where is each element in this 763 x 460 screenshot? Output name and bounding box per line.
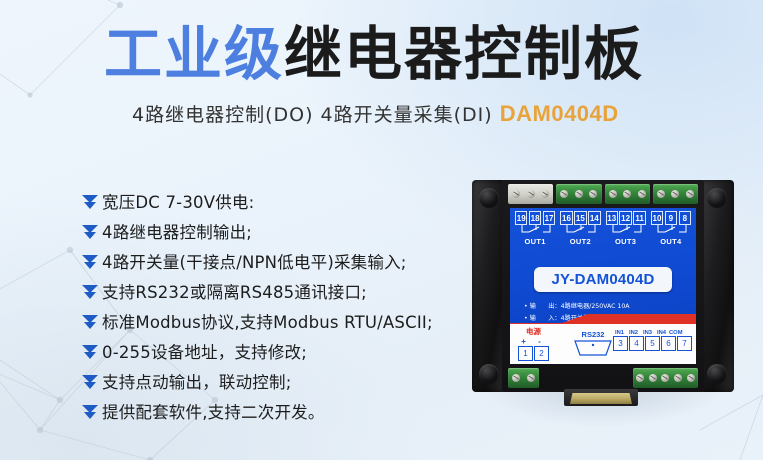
relay-symbol (515, 225, 555, 237)
mounting-ear-left (472, 180, 506, 392)
db9-serial-connector (564, 389, 638, 406)
power-terminal-group: 电源 + - 1 2 (518, 326, 549, 361)
double-chevron-down-icon (78, 309, 102, 333)
terminal-block (633, 368, 698, 388)
bottom-terminal-row (508, 368, 698, 388)
output-group: 19 18 17 OUT1 (515, 211, 555, 246)
terminal-block (508, 368, 539, 388)
output-label: OUT2 (560, 237, 600, 246)
model-plate: JY-DAM0404D (534, 267, 672, 292)
screw-icon (671, 190, 679, 198)
mounting-hole-icon (479, 188, 499, 208)
feature-item: 0-255设备地址，支持修改; (78, 336, 478, 365)
terminal-number: 17 (543, 211, 555, 225)
db9-connector-icon (570, 339, 616, 357)
terminal-number: 14 (588, 211, 600, 225)
double-chevron-down-icon (78, 219, 102, 243)
serial-port-group: RS232 (570, 330, 616, 362)
terminal-number: 16 (560, 211, 572, 225)
input-terminal-group: IN1 IN2 IN3 IN4 COM 3 4 5 6 (613, 330, 692, 351)
mounting-ear-right (700, 180, 734, 392)
spec-value: 4路继电器/250VAC 10A (561, 302, 630, 312)
feature-text: 支持点动输出，联动控制; (102, 369, 291, 393)
power-terminal-numbers: 1 2 (518, 346, 549, 361)
screw-icon (638, 190, 646, 198)
screw-icon (623, 190, 631, 198)
feature-text: 4路继电器控制输出; (102, 219, 252, 243)
feature-item: 支持RS232或隔离RS485通讯接口; (78, 276, 478, 305)
screw-icon (657, 190, 665, 198)
subtitle-text: 4路继电器控制(DO) 4路开关量采集(DI) (132, 104, 493, 126)
double-chevron-down-icon (78, 249, 102, 273)
screw-icon (560, 190, 568, 198)
double-chevron-down-icon (78, 369, 102, 393)
output-group: 13 12 11 OUT3 (606, 211, 646, 246)
screw-icon (687, 374, 695, 382)
feature-text: 支持RS232或隔离RS485通讯接口; (102, 279, 367, 303)
screw-icon (589, 190, 597, 198)
screw-icon (512, 190, 520, 198)
terminal-number: 7 (677, 336, 692, 351)
output-group: 16 15 14 OUT2 (560, 211, 600, 246)
feature-item: 标准Modbus协议,支持Modbus RTU/ASCII; (78, 306, 478, 335)
feature-item: 4路继电器控制输出; (78, 216, 478, 245)
terminal-block (556, 184, 601, 204)
terminal-number-row: 16 15 14 (560, 211, 600, 225)
terminal-number: 12 (619, 211, 631, 225)
terminal-number: 2 (534, 346, 549, 361)
title-highlight: 工业级 (104, 20, 284, 88)
title-rest: 继电器控制板 (284, 20, 644, 88)
mounting-hole-icon (479, 364, 499, 384)
terminal-number-row: 13 12 11 (606, 211, 646, 225)
screw-icon (674, 374, 682, 382)
relay-symbol (651, 225, 691, 237)
relay-symbol (606, 225, 646, 237)
feature-text: 提供配套软件,支持二次开发。 (102, 399, 325, 423)
screw-icon (661, 374, 669, 382)
terminal-gap (542, 368, 630, 388)
output-label: OUT1 (515, 237, 555, 246)
mounting-hole-icon (707, 364, 727, 384)
double-chevron-down-icon (78, 189, 102, 213)
double-chevron-down-icon (78, 279, 102, 303)
screw-icon (636, 374, 644, 382)
terminal-number: 15 (574, 211, 586, 225)
terminal-number: 5 (645, 336, 660, 351)
terminal-number: 4 (629, 336, 644, 351)
mounting-hole-icon (707, 188, 727, 208)
feature-text: 0-255设备地址，支持修改; (102, 339, 307, 363)
power-label: 电源 (518, 326, 549, 337)
model-plate-text: JY-DAM0404D (551, 271, 654, 288)
double-chevron-down-icon (78, 339, 102, 363)
device-faceplate: 19 18 17 OUT1 16 1 (510, 208, 696, 364)
screw-icon (609, 190, 617, 198)
terminal-number: 6 (661, 336, 676, 351)
device-body: 19 18 17 OUT1 16 1 (472, 176, 734, 388)
terminal-number: 1 (518, 346, 533, 361)
terminal-number: 10 (651, 211, 663, 225)
double-chevron-down-icon (78, 399, 102, 423)
terminal-number: 3 (613, 336, 628, 351)
device-core: 19 18 17 OUT1 16 1 (502, 180, 704, 392)
product-banner: 工业级继电器控制板 4路继电器控制(DO) 4路开关量采集(DI) DAM040… (0, 0, 763, 460)
bullet-dot-icon: • (524, 302, 528, 312)
feature-item: 宽压DC 7-30V供电: (78, 186, 478, 215)
screw-icon (649, 374, 657, 382)
feature-item: 4路开关量(干接点/NPN低电平)采集输入; (78, 246, 478, 275)
terminal-number: 18 (529, 211, 541, 225)
terminal-number: 9 (665, 211, 677, 225)
output-label: OUT3 (606, 237, 646, 246)
serial-port-label: RS232 (570, 330, 616, 339)
screw-icon (541, 190, 549, 198)
top-terminal-row (508, 184, 698, 204)
device-bottom-panel: 电源 + - 1 2 RS232 (510, 324, 696, 364)
product-model: DAM0404D (500, 101, 619, 126)
terminal-number: 13 (606, 211, 618, 225)
banner-subtitle: 4路继电器控制(DO) 4路开关量采集(DI) DAM0404D (132, 100, 619, 127)
product-device-image: 19 18 17 OUT1 16 1 (472, 172, 734, 392)
feature-text: 4路开关量(干接点/NPN低电平)采集输入; (102, 249, 407, 273)
output-label: OUT4 (651, 237, 691, 246)
terminal-number: 8 (679, 211, 691, 225)
terminal-block (508, 184, 553, 204)
screw-icon (575, 190, 583, 198)
input-terminal-numbers: 3 4 5 6 7 (613, 336, 692, 351)
spec-key: 输 出： (530, 302, 561, 312)
screw-icon (512, 374, 520, 382)
feature-list: 宽压DC 7-30V供电: 4路继电器控制输出; 4路开关量(干接点/NPN低电… (78, 186, 478, 426)
terminal-block (653, 184, 698, 204)
screw-icon (527, 190, 535, 198)
screw-icon (527, 374, 535, 382)
terminal-number: 11 (633, 211, 645, 225)
terminal-block (605, 184, 650, 204)
spec-line: • 输 出： 4路继电器/250VAC 10A (524, 302, 686, 312)
output-group: 10 9 8 OUT4 (651, 211, 691, 246)
terminal-number: 19 (515, 211, 527, 225)
feature-text: 标准Modbus协议,支持Modbus RTU/ASCII; (102, 309, 433, 333)
terminal-number-row: 10 9 8 (651, 211, 691, 225)
terminal-number-row: 19 18 17 (515, 211, 555, 225)
output-terminal-legend: 19 18 17 OUT1 16 1 (515, 211, 691, 246)
feature-item: 支持点动输出，联动控制; (78, 366, 478, 395)
screw-icon (686, 190, 694, 198)
relay-symbol (560, 225, 600, 237)
feature-text: 宽压DC 7-30V供电: (102, 189, 254, 213)
feature-item: 提供配套软件,支持二次开发。 (78, 396, 478, 425)
power-signs: + - (518, 337, 549, 346)
db9-shell (570, 393, 632, 404)
banner-title: 工业级继电器控制板 (104, 24, 644, 85)
